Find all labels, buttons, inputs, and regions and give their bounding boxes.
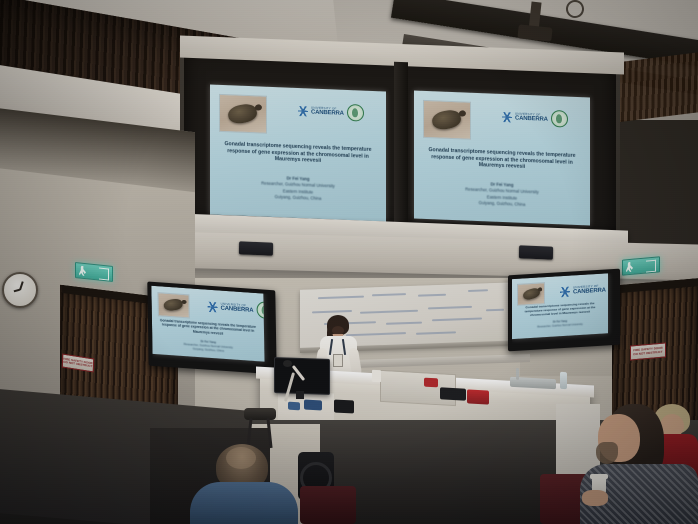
university-wordmark: UNIVERSITY OF CANBERRA xyxy=(515,113,548,123)
snowflake-icon xyxy=(208,301,218,312)
fire-safety-sign-right-text: FIRE SAFETY DOOR DO NOT OBSTRUCT xyxy=(631,347,665,357)
tv-slide-presenter-right: Dr Fei Yang Researcher, Guizhou Normal U… xyxy=(517,318,603,331)
audience2-beard xyxy=(596,442,618,464)
exit-door-icon xyxy=(99,268,109,281)
turtle-head xyxy=(458,110,467,118)
wall-monitor-left[interactable]: UNIVERSITY OF CANBERRA Gonadal transcrip… xyxy=(147,281,276,374)
university-line2: CANBERRA xyxy=(311,110,344,117)
tv-slide-title-right: Gonadal transcriptome sequencing reveals… xyxy=(517,302,603,319)
microphone-head xyxy=(283,360,292,367)
wall-monitor-right-screen: UNIVERSITY OF CANBERRA Gonadal transcrip… xyxy=(512,273,616,347)
exit-door-icon xyxy=(646,260,656,273)
projection-screen-right[interactable]: UNIVERSITY OF CANBERRA Gonadal transcrip… xyxy=(414,90,590,225)
university-wordmark: UNIVERSITY OF CANBERRA xyxy=(311,107,344,117)
tv-slide-title-left: Gonadal transcriptome sequencing reveals… xyxy=(158,318,258,338)
green-seal-icon xyxy=(347,104,364,122)
slide-presenter-left: Dr Fei Yang Researcher, Guizhou Normal U… xyxy=(220,173,376,204)
ceiling-speaker-right xyxy=(519,245,553,259)
fire-safety-sign-left-text: FIRE SAFETY DOOR DO NOT OBSTRUCT xyxy=(63,357,93,369)
slide-turtle-image-left xyxy=(219,94,267,134)
blue-equipment-case xyxy=(304,400,322,411)
wall-monitor-left-screen: UNIVERSITY OF CANBERRA Gonadal transcrip… xyxy=(151,286,272,371)
snowflake-icon xyxy=(560,286,570,297)
slide-logos-left: UNIVERSITY OF CANBERRA xyxy=(298,102,364,122)
tap xyxy=(516,368,519,380)
lecture-theatre-photo: UNIVERSITY OF CANBERRA Gonadal transcrip… xyxy=(0,0,698,524)
exit-sign-right xyxy=(622,256,660,275)
coffee-cup-lid xyxy=(590,474,608,479)
running-person-icon xyxy=(626,262,633,273)
tv-turtle-image-left xyxy=(157,292,189,318)
slide-turtle-image-right xyxy=(423,100,471,140)
av-monitor-stand xyxy=(296,391,304,399)
audience2-hand xyxy=(582,490,608,506)
presenter-name-badge xyxy=(333,354,343,367)
projection-screen-divider xyxy=(394,62,408,229)
red-equipment-small xyxy=(424,378,438,388)
wood-slat-panel-right xyxy=(620,48,698,122)
tv-logos-right: UNIVERSITY OF CANBERRA xyxy=(560,279,608,300)
slide-logos-right: UNIVERSITY OF CANBERRA xyxy=(502,108,568,128)
audience-member-front-left xyxy=(188,444,298,524)
university-line2: CANBERRA xyxy=(515,116,548,123)
paper-cup xyxy=(372,370,381,382)
blue-equipment-case-small xyxy=(288,402,300,411)
snowflake-icon xyxy=(502,112,512,122)
snowflake-icon xyxy=(298,106,308,116)
projection-screen-left[interactable]: UNIVERSITY OF CANBERRA Gonadal transcrip… xyxy=(210,84,386,221)
running-person-icon xyxy=(79,265,86,276)
camera xyxy=(334,399,354,413)
slide-title-left: Gonadal transcriptome sequencing reveals… xyxy=(220,141,376,167)
audience-member-right-with-coffee xyxy=(556,402,698,524)
green-seal-icon xyxy=(551,110,568,128)
ceiling-speaker-left xyxy=(239,241,273,255)
water-bottle xyxy=(560,372,567,389)
audience1-scalp xyxy=(226,447,256,469)
tv-slide-presenter-left: Dr Fei Yang Researcher, Guizhou Normal U… xyxy=(158,336,258,356)
wall-clock xyxy=(2,272,38,308)
audience1-torso xyxy=(190,482,298,524)
wall-monitor-right[interactable]: UNIVERSITY OF CANBERRA Gonadal transcrip… xyxy=(508,269,620,352)
slide-title-right: Gonadal transcriptome sequencing reveals… xyxy=(424,147,580,173)
tv-logos-left: UNIVERSITY OF CANBERRA xyxy=(207,298,264,320)
red-equipment-case xyxy=(467,389,489,404)
turtle-head xyxy=(254,104,263,112)
tv-turtle-image-right xyxy=(517,282,545,306)
black-av-equipment xyxy=(440,387,466,400)
slide-presenter-right: Dr Fei Yang Researcher, Guizhou Normal U… xyxy=(424,179,580,210)
green-seal-icon xyxy=(256,301,264,319)
seat-row-front xyxy=(300,486,356,524)
fire-safety-sign-right: FIRE SAFETY DOOR DO NOT OBSTRUCT xyxy=(630,342,666,360)
